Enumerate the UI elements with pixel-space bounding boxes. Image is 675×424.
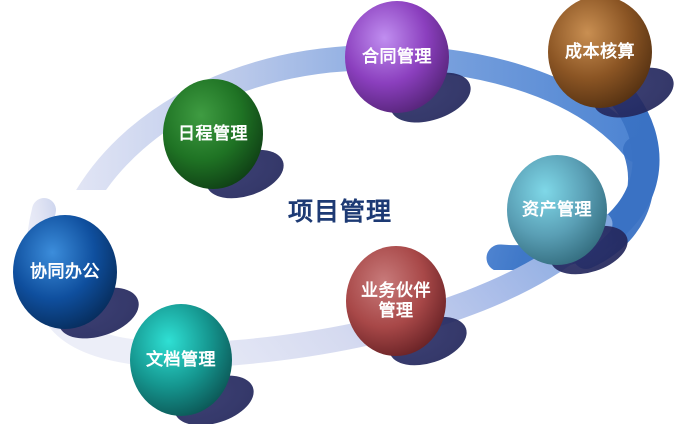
diagram-canvas: 项目管理 合同管理 成本核算 日程管理 资产管理 协同办公 业务伙伴管理 文档管… [0,0,675,424]
sphere-body[interactable] [346,246,446,356]
sphere-body[interactable] [163,79,263,189]
page-title: 项目管理 [288,192,392,228]
sphere-body[interactable] [548,0,652,108]
sphere-body[interactable] [507,155,607,265]
sphere-body[interactable] [13,215,117,329]
sphere-body[interactable] [130,304,232,416]
sphere-body[interactable] [345,1,449,113]
